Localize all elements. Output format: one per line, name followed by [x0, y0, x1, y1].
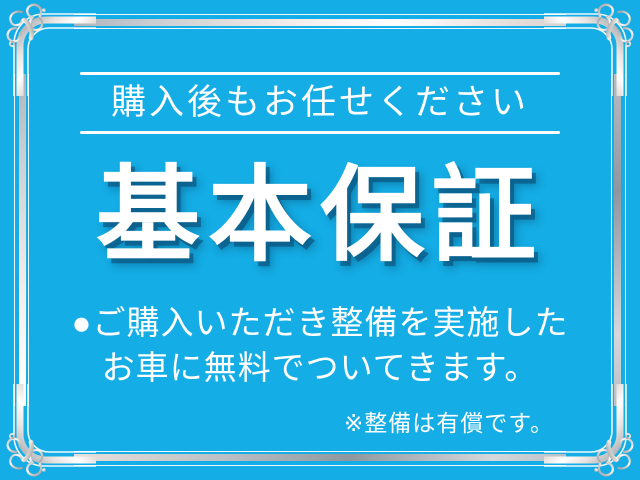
body-line-1: ●ご購入いただき整備を実施した [0, 300, 640, 345]
corner-mask-top-left [0, 0, 74, 74]
guarantee-banner: 購入後もお任せください 基本保証 ●ご購入いただき整備を実施した お車に無料でつ… [0, 0, 640, 480]
kicker-rule-bottom [80, 131, 560, 134]
body-line-2: お車に無料でついてきます。 [0, 345, 640, 390]
body-copy: ●ご購入いただき整備を実施した お車に無料でついてきます。 [0, 300, 640, 390]
corner-mask-bottom-left [0, 406, 74, 480]
footnote-text: ※整備は有償です。 [344, 404, 554, 438]
kicker-rule-top [80, 72, 560, 75]
page-title: 基本保証 [0, 160, 640, 272]
corner-mask-top-right [566, 0, 640, 74]
corner-ornament-bottom-left [0, 384, 96, 480]
corner-ornament-bottom-right [544, 384, 640, 480]
corner-mask-bottom-right [566, 406, 640, 480]
kicker-text: 購入後もお任せください [0, 80, 640, 126]
